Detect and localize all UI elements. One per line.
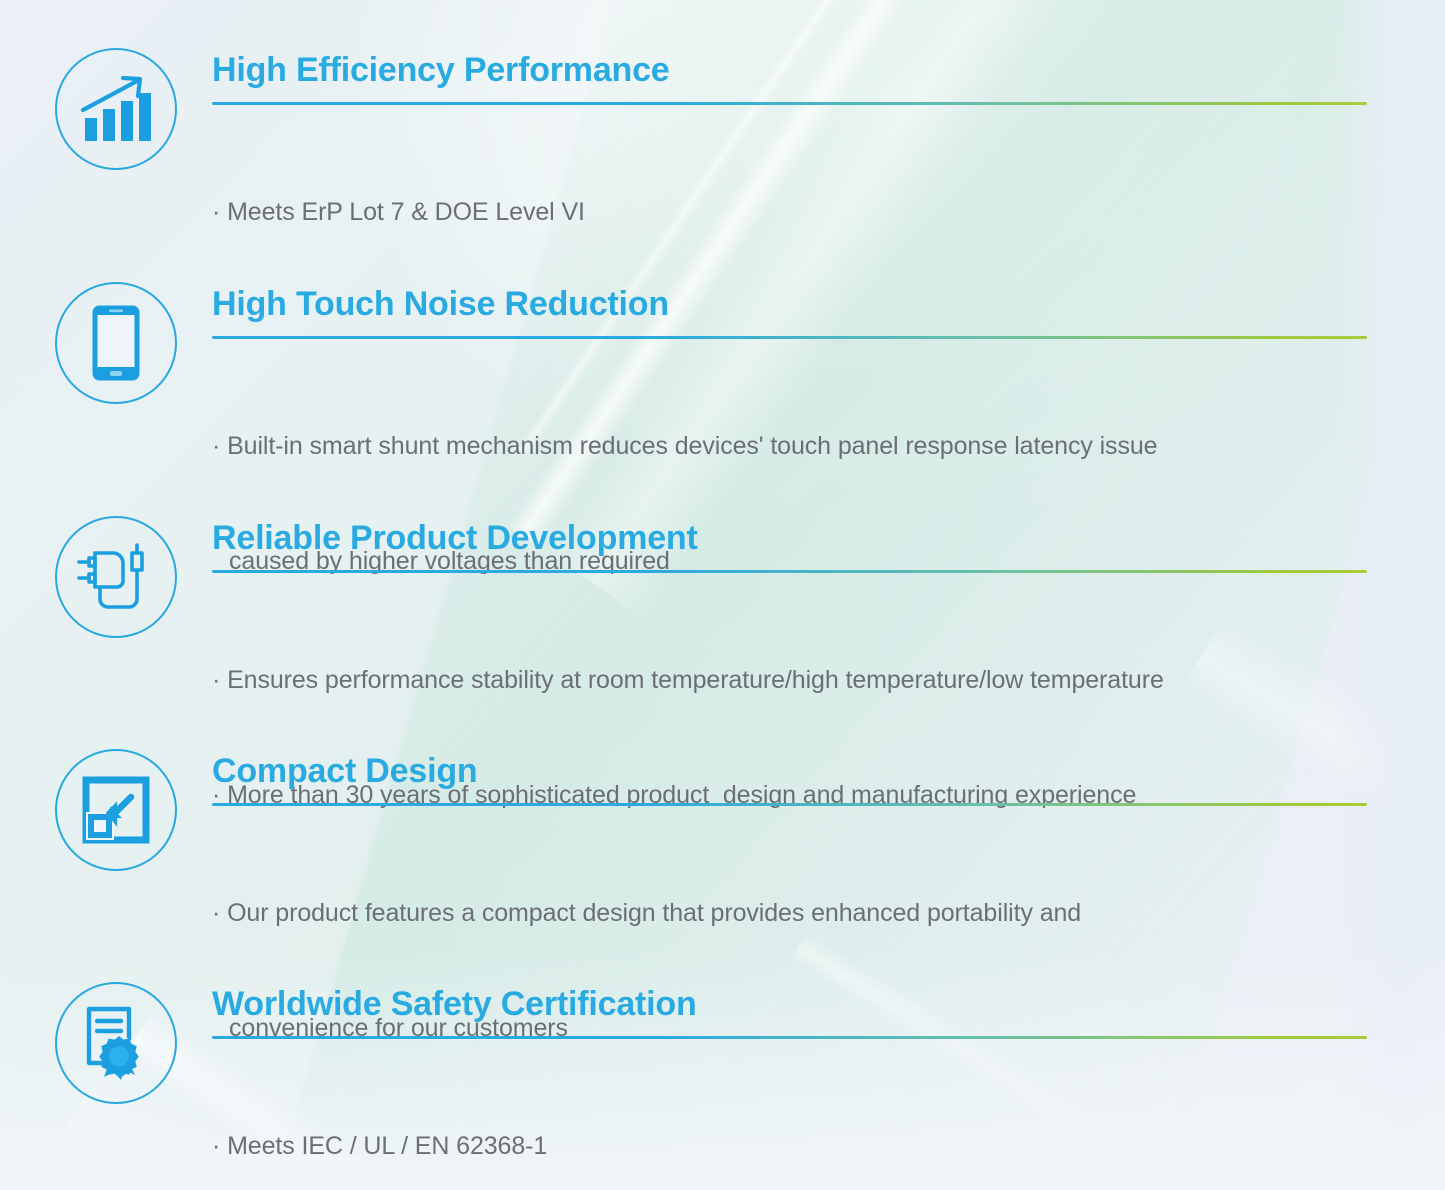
feature-title: Reliable Product Development bbox=[212, 521, 1367, 557]
feature-highlights-page: High Efficiency Performance · Meets ErP … bbox=[0, 0, 1445, 1190]
certificate-award-icon bbox=[55, 982, 177, 1104]
feature-item-high-efficiency-performance: High Efficiency Performance · Meets ErP … bbox=[0, 48, 1367, 308]
bullet-line: · Built-in smart shunt mechanism reduces… bbox=[212, 427, 1367, 466]
feature-body: Worldwide Safety Certification · Meets I… bbox=[212, 982, 1367, 1190]
resize-compact-icon bbox=[55, 749, 177, 871]
feature-title: Worldwide Safety Certification bbox=[212, 987, 1367, 1023]
bullet-line: · Meets ErP Lot 7 & DOE Level VI bbox=[212, 193, 1367, 232]
feature-item-worldwide-safety-certification: Worldwide Safety Certification · Meets I… bbox=[0, 982, 1367, 1190]
smartphone-icon bbox=[55, 282, 177, 404]
feature-bullets: · Meets ErP Lot 7 & DOE Level VI bbox=[212, 116, 1367, 309]
bullet-line: · Our product features a compact design … bbox=[212, 894, 1367, 933]
bullet-line: · Ensures performance stability at room … bbox=[212, 661, 1367, 700]
power-adapter-icon bbox=[55, 516, 177, 638]
feature-divider bbox=[212, 102, 1367, 105]
feature-body: High Efficiency Performance · Meets ErP … bbox=[212, 48, 1367, 308]
feature-divider bbox=[212, 336, 1367, 339]
feature-title: High Efficiency Performance bbox=[212, 53, 1367, 89]
feature-title: High Touch Noise Reduction bbox=[212, 287, 1367, 323]
feature-divider bbox=[212, 803, 1367, 806]
feature-bullets: · Meets IEC / UL / EN 62368-1 bbox=[212, 1050, 1367, 1190]
bullet-line: · Meets IEC / UL / EN 62368-1 bbox=[212, 1127, 1367, 1166]
feature-divider bbox=[212, 570, 1367, 573]
feature-title: Compact Design bbox=[212, 754, 1367, 790]
feature-divider bbox=[212, 1036, 1367, 1039]
bar-chart-growth-icon bbox=[55, 48, 177, 170]
